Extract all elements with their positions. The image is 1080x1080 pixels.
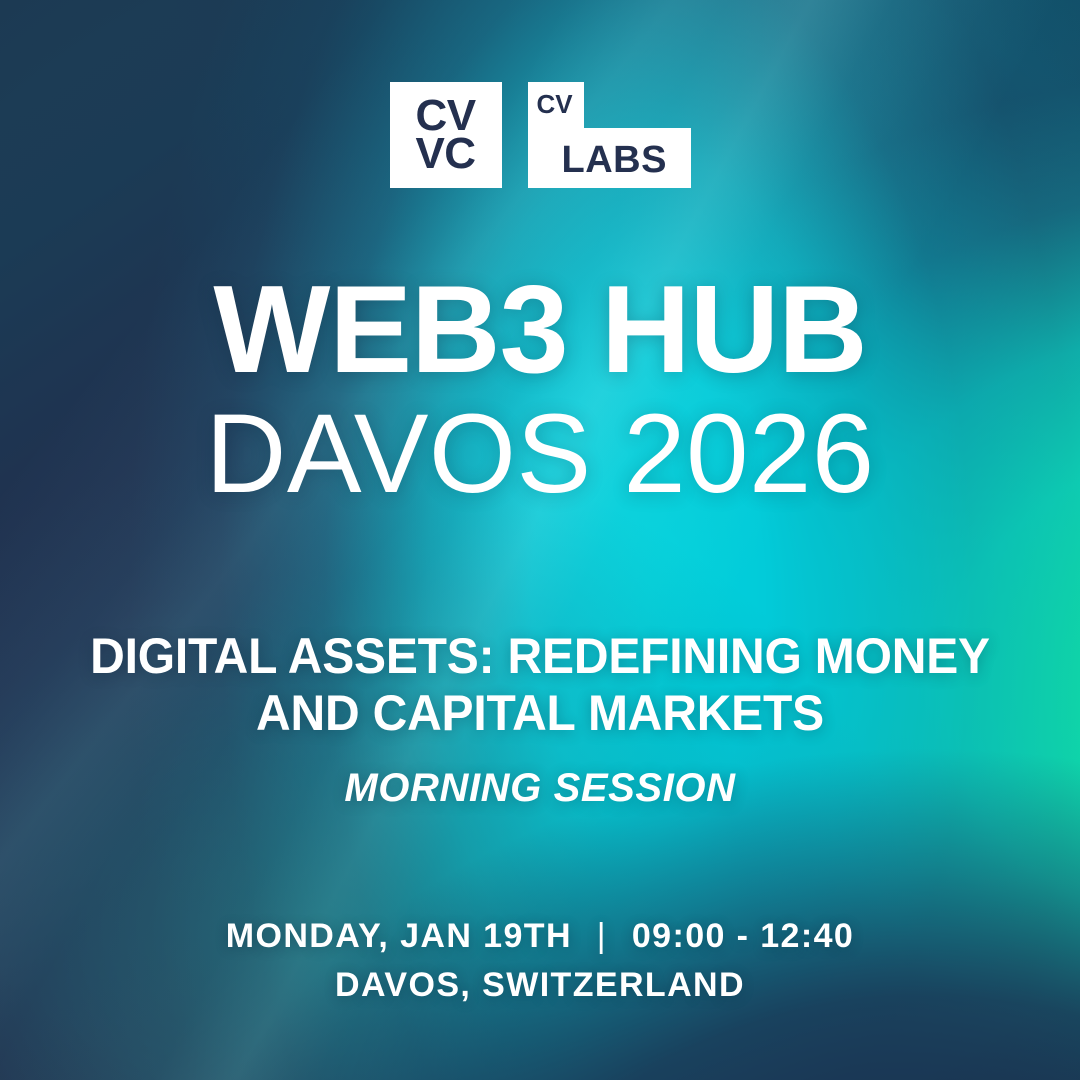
event-poster: CV VC CV LABS WEB3 HUB DAVOS 2026 DIGITA… [0, 0, 1080, 1080]
event-date: MONDAY, JAN 19TH [226, 917, 572, 955]
event-subtitle: DAVOS 2026 [0, 396, 1080, 512]
cvvc-logo-line-two: VC [415, 135, 475, 173]
session-topic-line-two: AND CAPITAL MARKETS [22, 685, 1059, 742]
session-label: MORNING SESSION [0, 766, 1080, 811]
headline-block: WEB3 HUB DAVOS 2026 [0, 268, 1080, 512]
cv-labs-logo-labs-text: LABS [562, 139, 667, 182]
poster-content: CV VC CV LABS WEB3 HUB DAVOS 2026 DIGITA… [0, 0, 1080, 1080]
cvvc-logo: CV VC [390, 82, 502, 188]
session-topic: DIGITAL ASSETS: REDEFINING MONEY AND CAP… [22, 628, 1059, 741]
event-time: 09:00 - 12:40 [632, 917, 854, 955]
event-details: MONDAY, JAN 19TH | 09:00 - 12:40 DAVOS, … [0, 912, 1080, 1010]
cv-labs-logo-cv-text: CV [537, 89, 573, 120]
session-topic-line-one: DIGITAL ASSETS: REDEFINING MONEY [90, 628, 990, 684]
cv-labs-logo: CV LABS [528, 82, 691, 188]
detail-separator: | [583, 912, 621, 961]
event-title: WEB3 HUB [0, 268, 1080, 392]
logo-lockup: CV VC CV LABS [0, 82, 1080, 188]
event-date-time: MONDAY, JAN 19TH | 09:00 - 12:40 [0, 912, 1080, 961]
event-location: DAVOS, SWITZERLAND [0, 961, 1080, 1010]
